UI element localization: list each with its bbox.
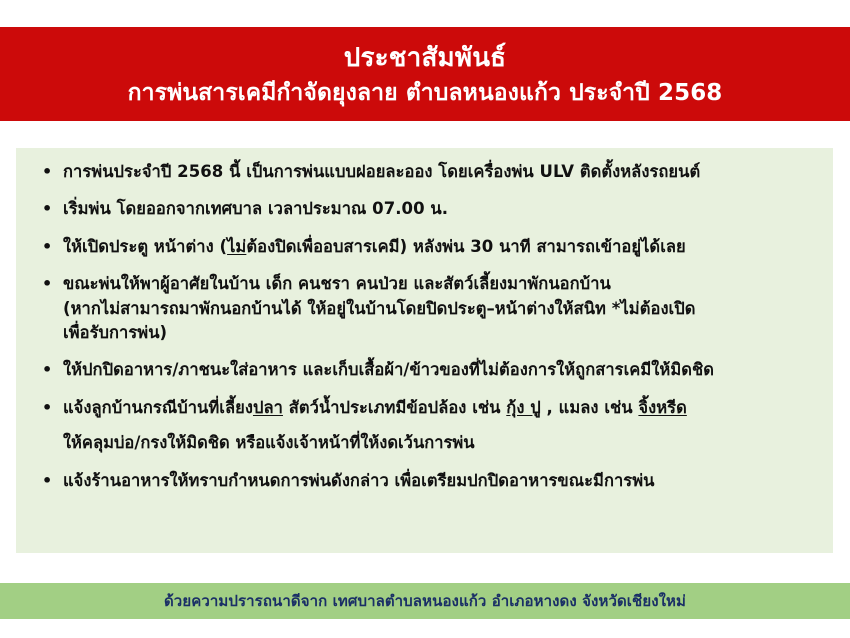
list-item: • ให้ปกปิดอาหาร/ภาชนะใส่อาหาร และเก็บเสื… xyxy=(30,358,819,382)
page-title: ประชาสัมพันธ์ xyxy=(344,43,506,74)
bullet-text-evacuate-line-2: (หากไม่สามารถมาพักนอกบ้านได้ ให้อยู่ในบ้… xyxy=(63,297,819,321)
instruction-list: • การพ่นประจำปี 2568 นี้ เป็นการพ่นแบบฝอ… xyxy=(30,160,819,493)
aquatic-part-b: สัตว์น้ำประเภทมีข้อปล้อง เช่น xyxy=(283,398,506,417)
bullet-text-evacuate-line-1: ขณะพ่นให้พาผู้อาศัยในบ้าน เด็ก คนชรา คนป… xyxy=(63,272,819,296)
underlined-word-jingreed: จิ้งหรีด xyxy=(638,398,686,417)
bullet-marker-icon: • xyxy=(42,197,52,221)
bullet-text-cover-food: ให้ปกปิดอาหาร/ภาชนะใส่อาหาร และเก็บเสื้อ… xyxy=(63,358,819,382)
underlined-word-kung-poo: กุ้ง ปู xyxy=(506,398,540,417)
bullet-marker-icon: • xyxy=(42,235,52,259)
bullet-marker-icon: • xyxy=(42,160,52,184)
bullet-open-part-a: ให้เปิดประตู หน้าต่าง ( xyxy=(63,237,227,256)
footer-credit-text: ด้วยความปรารถนาดีจาก เทศบาลตำบลหนองแก้ว … xyxy=(164,589,686,613)
bullet-text-notify-aquatic-animals: แจ้งลูกบ้านกรณีบ้านที่เลี้ยงปลา สัตว์น้ำ… xyxy=(63,396,819,420)
bullet-text-annual-spray-type: การพ่นประจำปี 2568 นี้ เป็นการพ่นแบบฝอยล… xyxy=(63,160,819,184)
bullet-text-notify-restaurants: แจ้งร้านอาหารให้ทราบกำหนดการพ่นดังกล่าว … xyxy=(63,469,819,493)
aquatic-part-a: แจ้งลูกบ้านกรณีบ้านที่เลี้ยง xyxy=(63,398,253,417)
bullet-marker-icon: • xyxy=(42,358,52,382)
list-item: • ขณะพ่นให้พาผู้อาศัยในบ้าน เด็ก คนชรา ค… xyxy=(30,272,819,345)
bullet-text-evacuate-line-3: เพื่อรับการพ่น) xyxy=(63,321,819,345)
underlined-word-mai: ไม่ xyxy=(227,237,246,256)
list-item: • การพ่นประจำปี 2568 นี้ เป็นการพ่นแบบฝอ… xyxy=(30,160,819,184)
list-item: • เริ่มพ่น โดยออกจากเทศบาล เวลาประมาณ 07… xyxy=(30,197,819,221)
header-banner: ประชาสัมพันธ์ การพ่นสารเคมีกำจัดยุงลาย ต… xyxy=(0,27,850,121)
bullet-continuation-cover-ponds: ให้คลุมบ่อ/กรงให้มิดชิด หรือแจ้งเจ้าหน้า… xyxy=(30,431,819,455)
bullet-text-open-doors-windows: ให้เปิดประตู หน้าต่าง (ไม่ต้องปิดเพื่ออบ… xyxy=(63,235,819,259)
bullet-text-start-time: เริ่มพ่น โดยออกจากเทศบาล เวลาประมาณ 07.0… xyxy=(63,197,819,221)
list-item: • แจ้งลูกบ้านกรณีบ้านที่เลี้ยงปลา สัตว์น… xyxy=(30,396,819,420)
underlined-word-pla: ปลา xyxy=(253,398,283,417)
page-subtitle: การพ่นสารเคมีกำจัดยุงลาย ตำบลหนองแก้ว ปร… xyxy=(128,80,723,108)
list-item: • ให้เปิดประตู หน้าต่าง (ไม่ต้องปิดเพื่อ… xyxy=(30,235,819,259)
bullet-marker-icon: • xyxy=(42,272,52,296)
bullet-marker-icon: • xyxy=(42,469,52,493)
bullet-open-part-b: ต้องปิดเพื่ออบสารเคมี) หลังพ่น 30 นาที ส… xyxy=(246,237,685,256)
footer-banner: ด้วยความปรารถนาดีจาก เทศบาลตำบลหนองแก้ว … xyxy=(0,583,850,619)
announcement-body-panel: • การพ่นประจำปี 2568 นี้ เป็นการพ่นแบบฝอ… xyxy=(16,148,833,553)
bullet-marker-icon: • xyxy=(42,396,52,420)
list-item: • แจ้งร้านอาหารให้ทราบกำหนดการพ่นดังกล่า… xyxy=(30,469,819,493)
aquatic-part-c: , แมลง เช่น xyxy=(541,398,639,417)
